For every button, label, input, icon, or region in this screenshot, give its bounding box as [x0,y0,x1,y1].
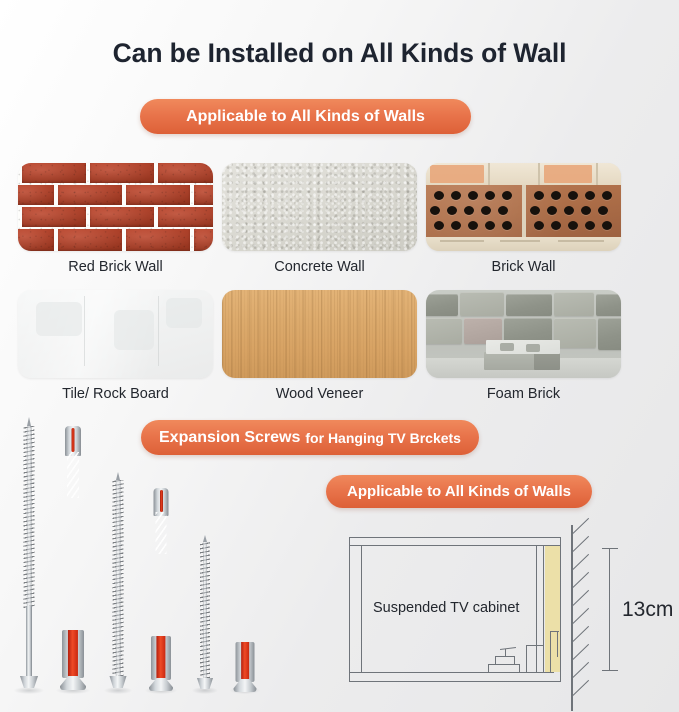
cabinet-outline-left2 [361,545,362,672]
bracket-vertical [550,631,551,672]
wall-type-label-concrete: Concrete Wall [222,259,417,275]
tv-antenna-stem [505,649,506,656]
red-brick-texture [18,163,213,251]
wall-types-grid: Red Brick Wall Concrete Wall [18,163,622,417]
tv-riser-top [526,645,544,646]
wall-type-card-foam-brick[interactable]: Foam Brick [426,290,621,408]
badge-applicable-walls-diagram: Applicable to All Kinds of Walls [326,475,592,508]
cabinet-label: Suspended TV cabinet [373,600,519,616]
expansion-anchor-medium[interactable] [145,488,177,694]
tv-antenna [500,647,516,650]
tv-base-right [519,664,520,673]
wall-type-label-foam-brick: Foam Brick [426,386,621,402]
concrete-texture [222,163,417,251]
expansion-anchor-small[interactable] [230,564,260,694]
wall-type-label-red-brick: Red Brick Wall [18,259,213,275]
cabinet-outline-top [349,537,561,538]
tv-cabinet-diagram: Suspended TV cabinet 13cm [325,515,679,712]
dimension-cap-top [602,548,618,549]
wall-type-card-red-brick[interactable]: Red Brick Wall [18,163,213,281]
cabinet-outline-right [560,537,561,682]
badge-expansion-screws: Expansion Screws for Hanging TV Brckets [141,420,479,455]
wall-type-card-wood-veneer[interactable]: Wood Veneer [222,290,417,408]
badge-applicable-walls-top: Applicable to All Kinds of Walls [140,99,471,134]
bracket-hook [557,631,558,657]
badge-applicable-walls-top-label: Applicable to All Kinds of Walls [186,108,425,126]
foam-brick-texture [426,290,621,378]
wall-type-label-tile-rock-board: Tile/ Rock Board [18,386,213,402]
badge-expansion-screws-light: for Hanging TV Brckets [305,430,461,446]
wood-screw-small[interactable] [192,534,218,694]
badge-applicable-walls-diagram-label: Applicable to All Kinds of Walls [347,483,571,500]
tile-rock-board-texture [18,290,213,378]
wall-type-label-perforated-brick: Brick Wall [426,259,621,275]
expansion-anchor-large[interactable] [56,426,90,694]
cabinet-outline-left [349,537,350,682]
wall-types-row-1: Red Brick Wall Concrete Wall [18,163,622,281]
cabinet-outline-top2 [349,545,561,546]
cabinet-inner-right [536,545,537,673]
badge-expansion-screws-strong: Expansion Screws [159,429,300,447]
tv-body-left [495,656,496,664]
wood-screw-large[interactable] [14,418,44,694]
wood-screw-medium[interactable] [104,472,132,694]
perforated-brick-texture [426,163,621,251]
wall-hatching [573,523,603,712]
page-title: Can be Installed on All Kinds of Wall [0,38,679,69]
wall-type-card-concrete[interactable]: Concrete Wall [222,163,417,281]
tv-body-top [495,656,515,657]
wall-type-card-tile-rock-board[interactable]: Tile/ Rock Board [18,290,213,408]
wood-veneer-texture [222,290,417,378]
tv-riser-vertical [526,645,527,673]
wall-types-row-2: Tile/ Rock Board Wood Veneer [18,290,622,408]
tv-base-left [488,664,489,673]
dimension-cap-bottom [602,670,618,671]
dimension-line-vertical [609,548,610,671]
tv-body-right [514,656,515,664]
dimension-label-13cm: 13cm [622,598,673,622]
wall-type-card-perforated-brick[interactable]: Brick Wall [426,163,621,281]
wall-type-label-wood-veneer: Wood Veneer [222,386,417,402]
cabinet-outline-bottom2 [349,672,554,673]
tv-base-outer [488,664,520,665]
cabinet-outline-bottom [349,681,561,682]
